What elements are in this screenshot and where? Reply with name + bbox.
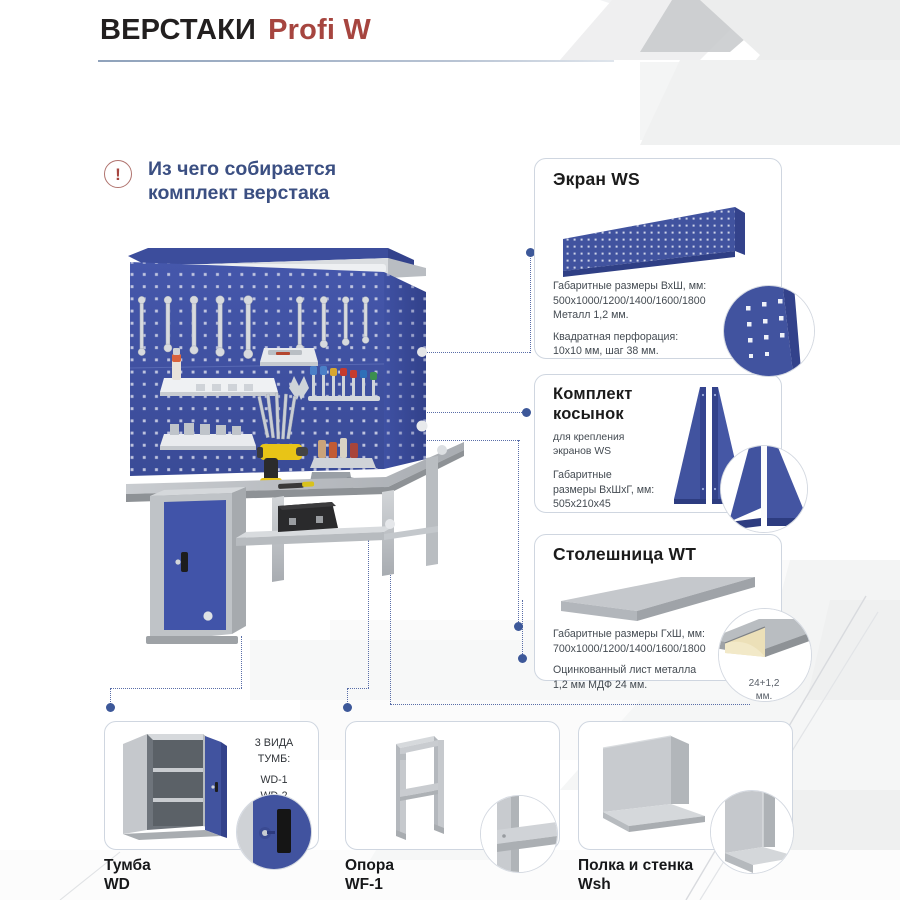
perforated-panel-icon (557, 201, 757, 279)
connector-dot-wt (514, 622, 523, 631)
connector-wd-drop (110, 688, 111, 704)
exclamation-circle-icon: ! (104, 160, 132, 188)
label-tumba-wd: Тумба WD (104, 857, 151, 895)
label-polka-wsh-line2: Wsh (578, 876, 693, 895)
label-tumba-wd-line2: WD (104, 876, 151, 895)
section-heading-line2: комплект верстака (148, 182, 336, 206)
worktop-slab-icon (555, 571, 760, 629)
connector-wt-vert (518, 440, 519, 626)
shelf-and-wall-icon (595, 732, 725, 837)
card-kos-spec-0: Габаритные размеры ВхШхГ, мм: 505х210х45 (553, 468, 668, 512)
label-opora-wf1-line2: WF-1 (345, 876, 394, 895)
card-wt-title: Столешница WT (553, 544, 696, 565)
poster-page: ВЕРСТАКИProfi W ! Из чего собирается ком… (0, 0, 900, 900)
label-polka-wsh: Полка и стенка Wsh (578, 857, 693, 895)
connector-dot-wf (343, 703, 352, 712)
title-model: Profi W (268, 14, 371, 46)
connector-dot-wd (106, 703, 115, 712)
connector-ws-vert (530, 250, 531, 353)
section-heading-line1: Из чего собирается (148, 158, 336, 182)
card-kos-specs: Габаритные размеры ВхШхГ, мм: 505х210х45 (553, 468, 668, 519)
label-opora-wf1-line1: Опора (345, 857, 394, 876)
connector-wf-horz (347, 688, 369, 689)
worktop-section-caption: 24+1,2 мм. (718, 678, 810, 703)
section-heading: ! Из чего собирается комплект верстака (104, 158, 336, 206)
connector-wf-drop (347, 688, 348, 704)
bracket-zoom-bubble (720, 445, 808, 533)
card-kos-subtitle: для крепления экранов WS (553, 431, 663, 459)
connector-dot-kos (522, 408, 531, 417)
lock-zoom-bubble (236, 794, 312, 870)
label-tumba-wd-line1: Тумба (104, 857, 151, 876)
tumba-note-line1: 3 ВИДА (237, 736, 311, 752)
tumba-variant-0: WD-1 (237, 773, 311, 788)
leg-joint-zoom-bubble (480, 795, 558, 873)
card-ws-spec-0: Габаритные размеры ВхШ, мм: 500х1000/120… (553, 279, 753, 323)
connector-wf-horz2 (390, 704, 750, 705)
card-kos-title-line2: косынок (553, 404, 668, 424)
leg-frame-icon (376, 730, 486, 842)
label-opora-wf1: Опора WF-1 (345, 857, 394, 895)
connector-dot-wsh (518, 654, 527, 663)
label-polka-wsh-line1: Полка и стенка (578, 857, 693, 876)
tumba-note-line2: ТУМБ: (237, 752, 311, 768)
page-title: ВЕРСТАКИProfi W (100, 14, 371, 47)
connector-wd-horz (110, 688, 242, 689)
title-divider (98, 60, 614, 62)
shelf-corner-zoom-bubble (710, 790, 794, 874)
header: ВЕРСТАКИProfi W (0, 0, 900, 80)
workbench-illustration (126, 244, 466, 664)
card-ws-title: Экран WS (553, 169, 640, 190)
card-kos-title-line1: Комплект (553, 384, 668, 404)
card-kos-title: Комплект косынок (553, 384, 668, 425)
perforation-zoom-bubble (723, 285, 815, 377)
title-main: ВЕРСТАКИ (100, 14, 256, 46)
cabinet-icon (117, 730, 239, 840)
